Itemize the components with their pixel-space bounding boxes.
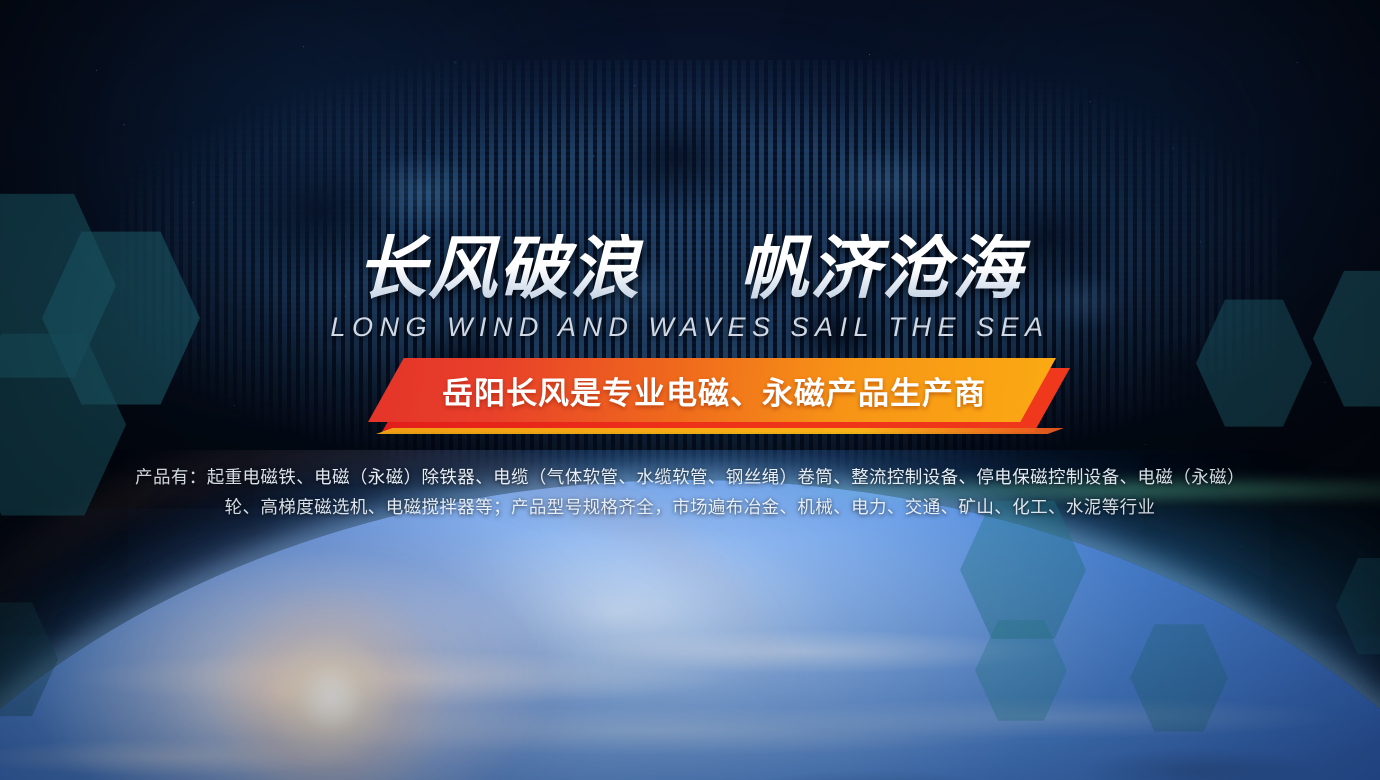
headline-right: 帆济沧海 bbox=[739, 230, 1023, 307]
page-title: 长风破浪 帆济沧海 bbox=[0, 234, 1380, 303]
banner-content: 长风破浪 帆济沧海 LONG WIND AND WAVES SAIL THE S… bbox=[0, 0, 1380, 780]
slogan-badge: 岳阳长风是专业电磁、永磁产品生产商 bbox=[368, 358, 1068, 432]
slogan-badge-text: 岳阳长风是专业电磁、永磁产品生产商 bbox=[442, 368, 986, 413]
slogan-badge-body: 岳阳长风是专业电磁、永磁产品生产商 bbox=[368, 358, 1056, 422]
description-line-1: 产品有：起重电磁铁、电磁（永磁）除铁器、电缆（气体软管、水缆软管、钢丝绳）卷筒、… bbox=[135, 467, 1245, 487]
hero-banner: 长风破浪 帆济沧海 LONG WIND AND WAVES SAIL THE S… bbox=[0, 0, 1380, 780]
description-line-2: 轮、高梯度磁选机、电磁搅拌器等；产品型号规格齐全，市场遍布冶金、机械、电力、交通… bbox=[110, 492, 1270, 522]
headline-left: 长风破浪 bbox=[357, 230, 641, 307]
product-description: 产品有：起重电磁铁、电磁（永磁）除铁器、电缆（气体软管、水缆软管、钢丝绳）卷筒、… bbox=[110, 462, 1270, 522]
subtitle-english: LONG WIND AND WAVES SAIL THE SEA bbox=[0, 312, 1380, 343]
slogan-badge-strip bbox=[376, 428, 1064, 434]
